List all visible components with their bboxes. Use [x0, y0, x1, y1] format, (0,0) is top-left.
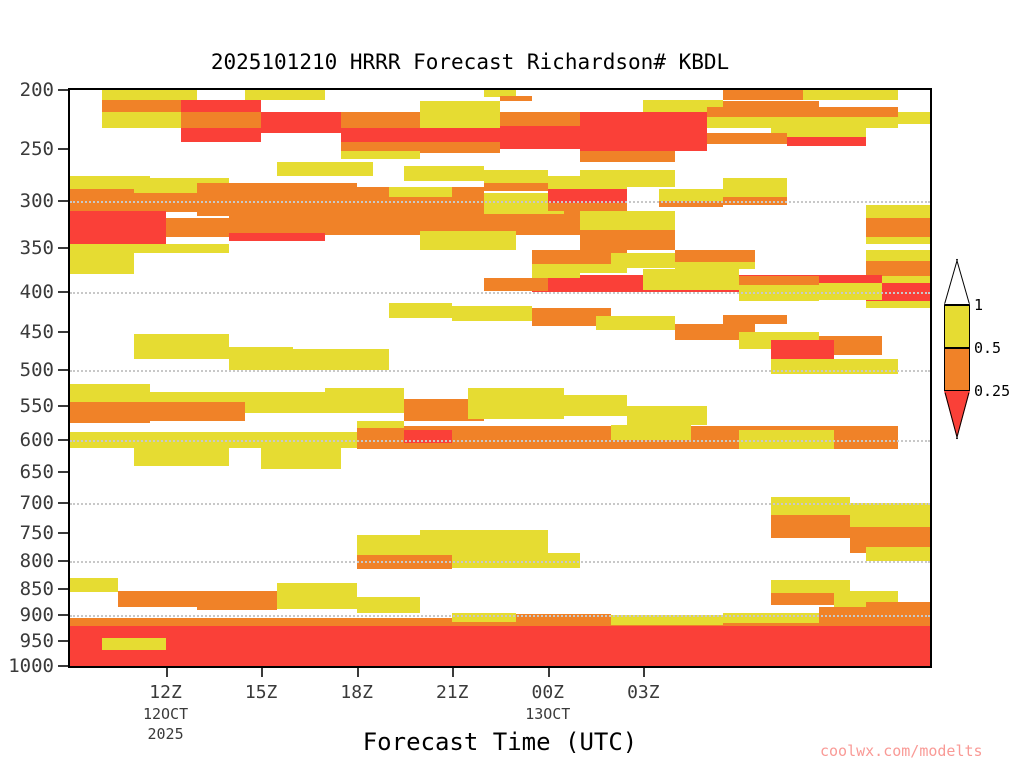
- y-axis-tick-label: 500: [20, 359, 54, 381]
- colorbar-tick-label: 1: [974, 296, 983, 314]
- heatmap-cell: [341, 128, 421, 142]
- heatmap-cell: [70, 623, 930, 666]
- x-axis-tick-mark: [261, 668, 263, 677]
- x-axis-tick-label: 15Z: [245, 682, 278, 703]
- heatmap-cell: [580, 230, 676, 250]
- page-title: 2025101210 HRRR Forecast Richardson# KBD…: [0, 50, 940, 74]
- x-axis-tick-mark: [357, 668, 359, 677]
- y-axis-tick-label: 900: [20, 604, 54, 626]
- heatmap-cell: [357, 421, 405, 428]
- heatmap-cell: [468, 388, 564, 419]
- heatmap-cell: [102, 100, 182, 112]
- x-axis-tick-mark: [452, 668, 454, 677]
- heatmap-cell: [580, 131, 707, 151]
- heatmap-cell: [866, 547, 930, 561]
- y-axis-tick-label: 650: [20, 461, 54, 483]
- y-axis-tick-label: 750: [20, 522, 54, 544]
- heatmap-cell: [659, 189, 723, 201]
- heatmap-cell: [596, 316, 676, 330]
- heatmap-cell: [134, 443, 230, 466]
- heatmap-cell: [102, 638, 166, 650]
- heatmap-cell: [484, 278, 548, 292]
- heatmap-cell: [341, 112, 421, 128]
- y-axis-tick-label: 950: [20, 630, 54, 652]
- x-axis-title: Forecast Time (UTC): [68, 728, 932, 756]
- y-axis-tick-label: 400: [20, 281, 54, 303]
- heatmap-cell: [627, 406, 707, 425]
- heatmap-cell: [787, 137, 867, 146]
- heatmap-cell: [580, 112, 707, 131]
- heatmap-cell: [277, 162, 373, 177]
- x-axis-tick-label: 00Z13OCT: [525, 682, 570, 723]
- heatmap-cell: [245, 392, 325, 413]
- heatmap-cell: [293, 349, 389, 370]
- heatmap-cell: [548, 203, 628, 211]
- x-axis-tick-label: 21Z: [436, 682, 469, 703]
- y-axis-tick-label: 1000: [8, 655, 54, 677]
- gridline: [70, 201, 930, 204]
- heatmap-cell: [723, 178, 787, 196]
- y-axis-tick-label: 250: [20, 138, 54, 160]
- heatmap-cell: [420, 110, 500, 129]
- heatmap-cell: [452, 306, 532, 321]
- heatmap-cell: [723, 315, 787, 325]
- gridline: [70, 561, 930, 564]
- heatmap-cell: [739, 276, 819, 285]
- colorbar-tick-label: 0.5: [974, 339, 1001, 357]
- heatmap-cell: [866, 237, 930, 244]
- gridline: [70, 292, 930, 295]
- heatmap-cell: [866, 250, 930, 261]
- heatmap-cell: [866, 218, 930, 237]
- heatmap-cell: [150, 402, 246, 421]
- heatmap-cell: [261, 112, 341, 133]
- heatmap-cell: [643, 100, 723, 107]
- heatmap-cell: [197, 591, 277, 610]
- heatmap-cell: [675, 262, 755, 269]
- heatmap-cell: [181, 100, 261, 112]
- colorbar-segment-high: [944, 305, 970, 348]
- heatmap-cell: [723, 90, 803, 100]
- heatmap-cell: [70, 211, 166, 247]
- heatmap-cell: [181, 112, 261, 128]
- heatmap-cell: [102, 112, 182, 128]
- y-axis-tick-label: 550: [20, 395, 54, 417]
- heatmap-cell: [70, 578, 118, 592]
- heatmap-cell: [341, 151, 421, 160]
- heatmap-cell: [420, 101, 500, 109]
- watermark: coolwx.com/modelts: [820, 742, 983, 760]
- heatmap-cell: [420, 530, 547, 556]
- heatmap-cell: [500, 112, 580, 126]
- heatmap-cell: [261, 445, 341, 469]
- y-axis-tick-label: 200: [20, 79, 54, 101]
- heatmap-cell: [389, 303, 453, 318]
- heatmap-cell: [707, 107, 898, 117]
- heatmap-cell: [420, 231, 516, 249]
- y-axis: 2002503003504004505005506006507007508008…: [0, 88, 64, 668]
- heatmap-cell: [866, 301, 930, 308]
- heatmap-cell: [500, 126, 580, 142]
- chart-root: 2025101210 HRRR Forecast Richardson# KBD…: [0, 0, 1024, 768]
- heatmap-cell: [484, 170, 548, 182]
- heatmap-cell: [532, 271, 580, 278]
- heatmap-cell: [70, 189, 134, 211]
- heatmap-cell: [341, 142, 421, 151]
- heatmap-cell: [580, 151, 676, 162]
- x-axis-tick-mark: [166, 668, 168, 677]
- heatmap-cell: [404, 166, 484, 181]
- heatmap-cell: [70, 384, 150, 402]
- heatmap-cell: [70, 402, 150, 423]
- gridline: [70, 370, 930, 373]
- heatmap-cell: [850, 503, 930, 530]
- y-axis-tick-label: 850: [20, 578, 54, 600]
- x-axis-tick-mark: [548, 668, 550, 677]
- gridline: [70, 440, 930, 443]
- colorbar: 10.50.25: [944, 305, 970, 435]
- heatmap-cell: [245, 90, 325, 100]
- y-axis-tick-label: 700: [20, 492, 54, 514]
- y-axis-tick-label: 300: [20, 190, 54, 212]
- heatmap-cell: [611, 253, 675, 267]
- y-axis-tick-label: 800: [20, 550, 54, 572]
- y-axis-tick-label: 600: [20, 429, 54, 451]
- heatmap-cell: [548, 176, 628, 188]
- colorbar-tick-label: 0.25: [974, 382, 1010, 400]
- heatmap-plot[interactable]: [68, 88, 932, 668]
- heatmap-cell: [898, 112, 930, 124]
- heatmap-cell: [420, 142, 500, 153]
- heatmap-cell: [229, 233, 325, 240]
- heatmap-cell: [389, 187, 453, 197]
- heatmap-cell: [580, 211, 676, 230]
- heatmap-cell: [643, 269, 739, 290]
- heatmap-cell: [277, 583, 357, 609]
- heatmap-cell: [134, 334, 230, 359]
- colorbar-segment-mid: [944, 348, 970, 391]
- heatmap-cell: [500, 96, 532, 101]
- heatmap-cells: [70, 90, 930, 666]
- heatmap-cell: [771, 515, 851, 538]
- heatmap-cell: [357, 597, 421, 613]
- x-axis-tick-label: 03Z: [627, 682, 660, 703]
- heatmap-cell: [118, 591, 198, 607]
- x-axis-tick-mark: [643, 668, 645, 677]
- heatmap-cell: [675, 250, 755, 262]
- heatmap-cell: [803, 90, 899, 100]
- heatmap-cell: [564, 395, 628, 416]
- y-axis-tick-label: 350: [20, 237, 54, 259]
- x-axis-tick-label: 18Z: [340, 682, 373, 703]
- heatmap-cell: [70, 250, 134, 275]
- gridline: [70, 615, 930, 618]
- gridline: [70, 503, 930, 506]
- heatmap-cell: [229, 347, 293, 369]
- heatmap-cell: [611, 425, 691, 440]
- heatmap-cell: [866, 205, 930, 219]
- heatmap-cell: [325, 388, 405, 413]
- heatmap-cell: [707, 133, 787, 144]
- heatmap-cell: [102, 90, 198, 100]
- heatmap-cell: [181, 128, 261, 142]
- y-axis-tick-label: 450: [20, 321, 54, 343]
